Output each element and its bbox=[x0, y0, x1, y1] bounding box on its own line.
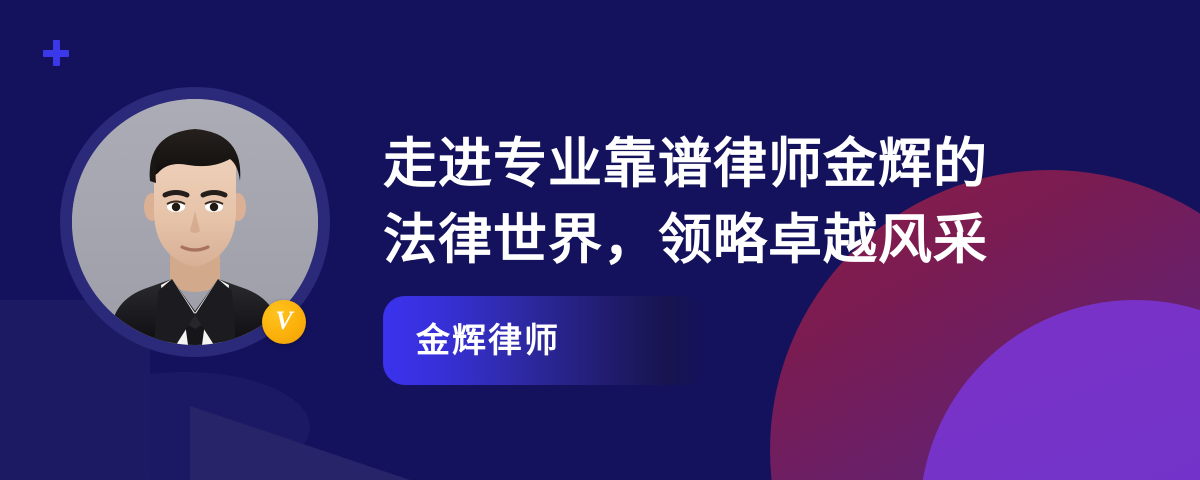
decorative-arc-inner bbox=[920, 300, 1200, 480]
verified-badge-glyph: V bbox=[275, 308, 292, 334]
plus-icon-vertical-bar bbox=[53, 40, 60, 66]
decorative-triangle-wedge bbox=[150, 380, 410, 480]
plus-icon bbox=[43, 40, 69, 66]
headline: 走进专业靠谱律师金辉的 法律世界，领略卓越风采 bbox=[383, 126, 1083, 278]
lawyer-name-button-label: 金辉律师 bbox=[416, 324, 560, 358]
headline-line-2: 法律世界，领略卓越风采 bbox=[383, 202, 1083, 278]
headline-line-1: 走进专业靠谱律师金辉的 bbox=[383, 126, 1083, 202]
plus-icon-horizontal-bar bbox=[43, 50, 69, 57]
avatar[interactable]: V bbox=[60, 87, 330, 357]
lawyer-promo-banner: V 走进专业靠谱律师金辉的 法律世界，领略卓越风采 金辉律师 bbox=[0, 0, 1200, 480]
verified-badge-icon: V bbox=[262, 300, 306, 344]
lawyer-name-button[interactable]: 金辉律师 bbox=[383, 296, 705, 385]
decorative-dim-circle bbox=[60, 372, 310, 480]
